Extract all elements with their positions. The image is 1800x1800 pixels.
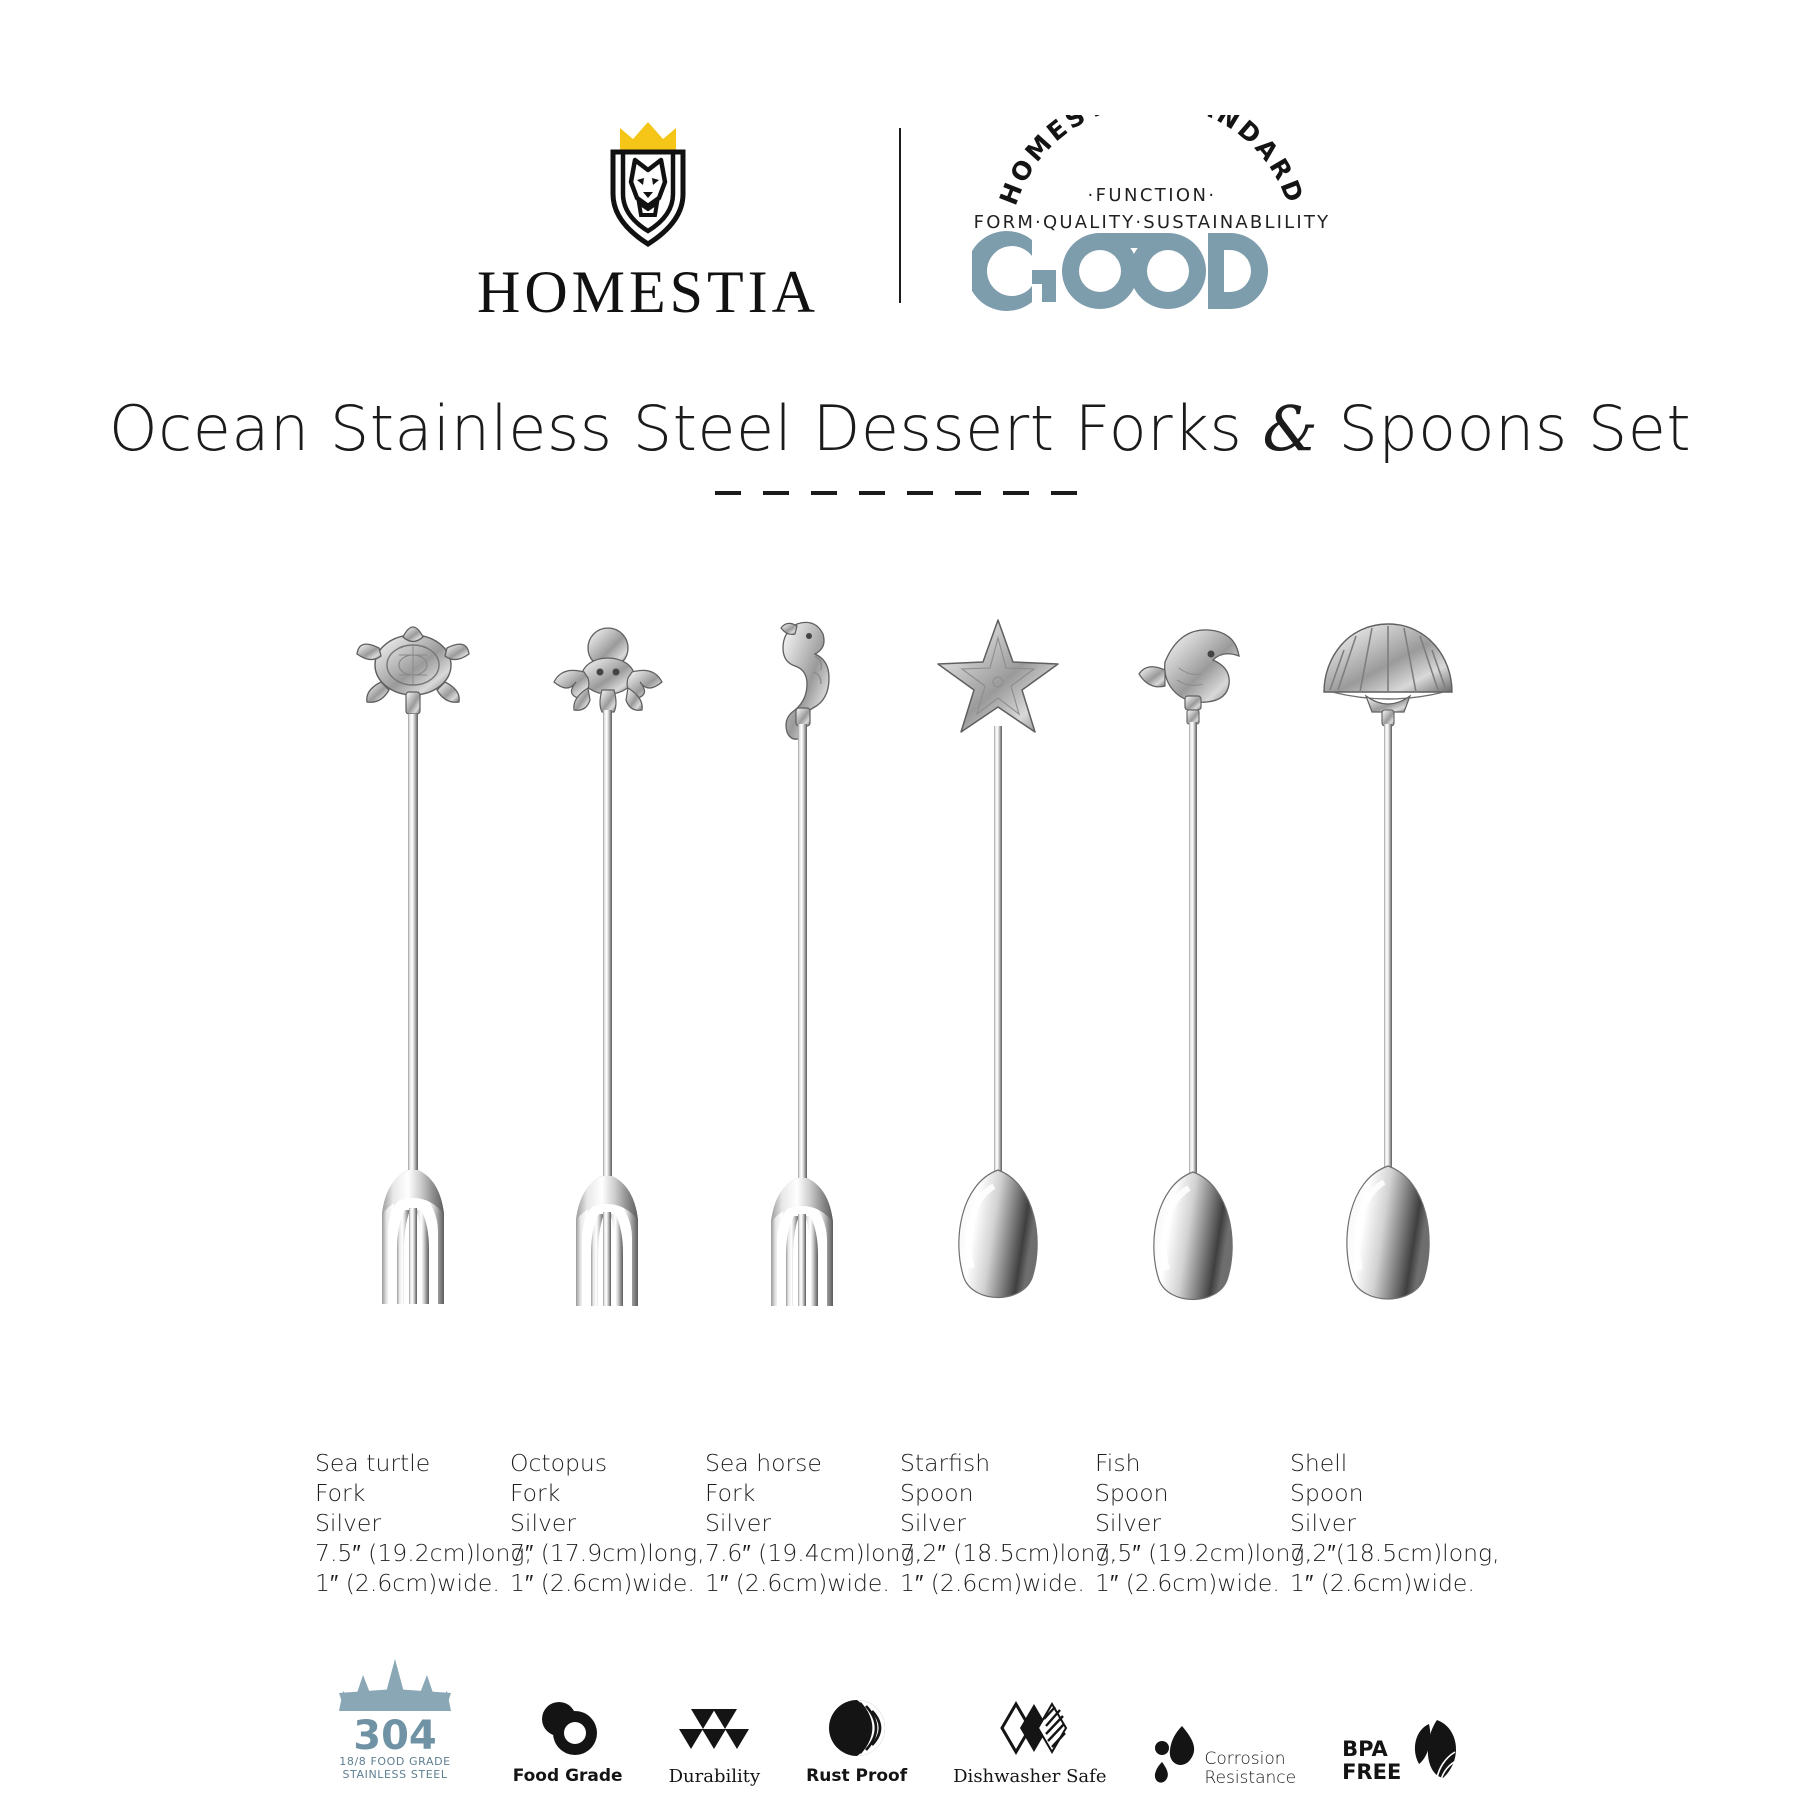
shell-charm-icon — [1324, 624, 1452, 726]
product-finish: Silver — [315, 1508, 500, 1538]
product-name: Starfish — [900, 1448, 1085, 1478]
product-length: 7.6″ (19.4cm)long, — [705, 1538, 890, 1568]
label-fish: Fish Spoon Silver 7.5″ (19.2cm)long, 1″ … — [1095, 1448, 1290, 1598]
sea-horse-fork-image — [713, 610, 893, 1310]
fork-head-icon — [576, 1176, 638, 1306]
diamond-stack-icon — [982, 1695, 1078, 1761]
label-starfish: Starfish Spoon Silver 7.2″ (18.5cm)long,… — [900, 1448, 1095, 1598]
bpa-free-label: BPA FREE — [1342, 1738, 1401, 1784]
product-finish: Silver — [510, 1508, 695, 1538]
label-octopus: Octopus Fork Silver 7″ (17.9cm)long, 1″ … — [510, 1448, 705, 1598]
bpa-line2: FREE — [1342, 1760, 1401, 1784]
feature-label-line2: Resistance — [1204, 1768, 1296, 1788]
logo-divider — [899, 128, 901, 303]
feature-label: Durability — [669, 1767, 761, 1786]
title-dashed-rule — [715, 491, 1085, 495]
sea-turtle-fork-image — [323, 610, 503, 1310]
product-length: 7.2″ (18.5cm)long, — [900, 1538, 1085, 1568]
feature-food-grade: Food Grade — [513, 1695, 623, 1786]
product-labels-row: Sea turtle Fork Silver 7.5″ (19.2cm)long… — [0, 1448, 1800, 1598]
product-name: Shell — [1290, 1448, 1475, 1478]
fish-spoon-image — [1103, 610, 1283, 1310]
feature-label: Rust Proof — [806, 1767, 907, 1786]
header-logos: HOMESTIA HOMESTIA STANDARD ·FUNCTION· ·F… — [0, 100, 1800, 330]
shell-spoon-image — [1298, 610, 1478, 1310]
product-infographic-page: HOMESTIA HOMESTIA STANDARD ·FUNCTION· ·F… — [0, 0, 1800, 1800]
badge-304-line2: STAINLESS STEEL — [342, 1768, 447, 1781]
product-width: 1″ (2.6cm)wide. — [900, 1568, 1085, 1598]
spoon-bowl-icon — [958, 1170, 1036, 1298]
homestia-brand-logo: HOMESTIA — [433, 108, 863, 322]
title-section: Ocean Stainless Steel Dessert Forks & Sp… — [0, 392, 1800, 495]
feature-durability: Durability — [669, 1695, 761, 1786]
homestia-standard-logo: HOMESTIA STANDARD ·FUNCTION· ·FORM·QUALI… — [937, 115, 1367, 315]
title-part-1: Ocean Stainless Steel Dessert Forks — [109, 392, 1243, 465]
triangle-grid-icon — [671, 1695, 757, 1761]
water-droplets-icon — [1152, 1720, 1198, 1786]
title-part-2: Spoons Set — [1338, 392, 1691, 465]
feature-label: Dishwasher Safe — [953, 1767, 1106, 1786]
fork-head-icon — [771, 1178, 833, 1306]
feature-bpa-free: BPA FREE — [1342, 1716, 1465, 1786]
standard-line-function: ·FUNCTION· — [1088, 185, 1217, 206]
badge-304-number: 304 — [353, 1713, 437, 1759]
product-sea-turtle — [315, 610, 510, 1310]
page-title: Ocean Stainless Steel Dessert Forks & Sp… — [0, 392, 1800, 465]
label-sea-horse: Sea horse Fork Silver 7.6″ (19.4cm)long,… — [705, 1448, 900, 1598]
product-name: Sea turtle — [315, 1448, 500, 1478]
product-finish: Silver — [1095, 1508, 1280, 1538]
product-length: 7.2″(18.5cm)long, — [1290, 1538, 1475, 1568]
good-wordmark — [972, 231, 1268, 311]
overlapping-circles-icon — [531, 1695, 605, 1761]
feature-badges-row: 304 18/8 FOOD GRADE STAINLESS STEEL Food… — [0, 1636, 1800, 1786]
product-type: Fork — [315, 1478, 500, 1508]
product-width: 1″ (2.6cm)wide. — [315, 1568, 500, 1598]
bpa-line1: BPA — [1342, 1737, 1388, 1761]
product-width: 1″ (2.6cm)wide. — [510, 1568, 695, 1598]
product-finish: Silver — [1290, 1508, 1475, 1538]
product-length: 7.5″ (19.2cm)long, — [315, 1538, 500, 1568]
crowned-lion-shield-icon — [573, 108, 723, 258]
product-finish: Silver — [900, 1508, 1085, 1538]
feature-label-line1: Corrosion — [1204, 1749, 1285, 1769]
product-name: Octopus — [510, 1448, 695, 1478]
good-standard-emblem-icon: HOMESTIA STANDARD ·FUNCTION· ·FORM·QUALI… — [972, 115, 1332, 315]
octopus-charm-icon — [554, 628, 662, 712]
feature-dishwasher-safe: Dishwasher Safe — [953, 1695, 1106, 1786]
leaf-icon — [1403, 1716, 1465, 1786]
product-width: 1″ (2.6cm)wide. — [1095, 1568, 1280, 1598]
product-name: Fish — [1095, 1448, 1280, 1478]
product-octopus — [510, 610, 705, 1310]
spoon-bowl-icon — [1346, 1166, 1428, 1299]
feature-corrosion-resistance: Corrosion Resistance — [1152, 1720, 1296, 1786]
badge-304-line1: 18/8 FOOD GRADE — [339, 1755, 450, 1768]
product-sea-horse — [705, 610, 900, 1310]
badge-304-stainless-steel: 304 18/8 FOOD GRADE STAINLESS STEEL — [335, 1655, 455, 1786]
spoon-bowl-icon — [1153, 1172, 1231, 1300]
product-name: Sea horse — [705, 1448, 890, 1478]
product-length: 7.5″ (19.2cm)long, — [1095, 1538, 1280, 1568]
starfish-spoon-image — [908, 610, 1088, 1310]
product-starfish — [900, 610, 1095, 1310]
fork-head-icon — [382, 1170, 444, 1304]
brand-wordmark: HOMESTIA — [477, 262, 819, 322]
product-finish: Silver — [705, 1508, 890, 1538]
feature-label: Corrosion Resistance — [1204, 1750, 1296, 1788]
product-type: Spoon — [900, 1478, 1085, 1508]
product-shell — [1290, 610, 1485, 1310]
product-type: Fork — [705, 1478, 890, 1508]
feature-rust-proof: Rust Proof — [806, 1695, 907, 1786]
product-row — [0, 610, 1800, 1310]
standard-line-values: ·FORM·QUALITY·SUSTAINABLILITY· — [972, 212, 1332, 233]
fish-charm-icon — [1139, 630, 1239, 724]
sea-horse-charm-icon — [781, 622, 829, 739]
label-shell: Shell Spoon Silver 7.2″(18.5cm)long, 1″ … — [1290, 1448, 1485, 1598]
label-sea-turtle: Sea turtle Fork Silver 7.5″ (19.2cm)long… — [315, 1448, 510, 1598]
product-type: Fork — [510, 1478, 695, 1508]
product-type: Spoon — [1095, 1478, 1280, 1508]
product-width: 1″ (2.6cm)wide. — [1290, 1568, 1475, 1598]
product-type: Spoon — [1290, 1478, 1475, 1508]
feature-label: Food Grade — [513, 1767, 623, 1786]
sea-turtle-charm-icon — [357, 627, 469, 714]
product-length: 7″ (17.9cm)long, — [510, 1538, 695, 1568]
starfish-charm-icon — [938, 620, 1058, 732]
title-ampersand: & — [1263, 392, 1319, 465]
product-width: 1″ (2.6cm)wide. — [705, 1568, 890, 1598]
crown-icon: 304 18/8 FOOD GRADE STAINLESS STEEL — [335, 1655, 455, 1781]
layered-circle-icon — [822, 1695, 892, 1761]
product-fish — [1095, 610, 1290, 1310]
octopus-fork-image — [518, 610, 698, 1310]
